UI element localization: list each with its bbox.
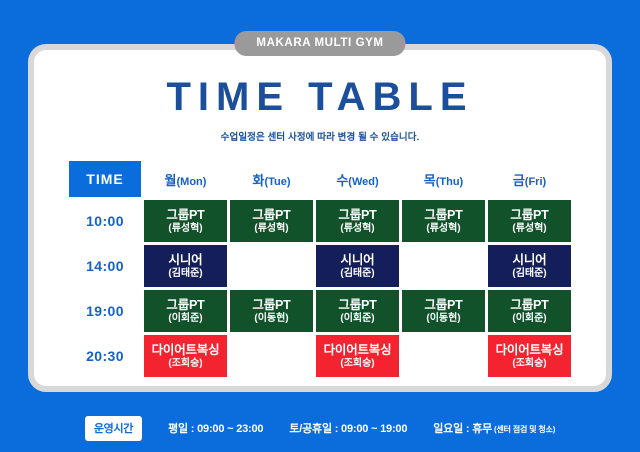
slot-fri-1900[interactable]: 그룹PT (이회준) — [488, 290, 571, 332]
header-day-wed: 수(Wed) — [316, 161, 399, 197]
slot-class-name: 다이어트복싱 — [488, 343, 571, 357]
header-day-fri-ko: 금 — [513, 173, 525, 188]
slot-thu-1400-empty — [402, 245, 485, 287]
slot-coach-name: (조회숭) — [144, 358, 227, 370]
slot-fri-2030[interactable]: 다이어트복싱 (조회숭) — [488, 335, 571, 377]
header-day-thu-en: (Thu) — [436, 176, 463, 188]
table-header-row: TIME 월(Mon) 화(Tue) 수(Wed) 목(Thu) — [69, 161, 571, 197]
slot-coach-name: (류성혁) — [230, 223, 313, 235]
slot-class-name: 시니어 — [488, 253, 571, 267]
header-day-tue: 화(Tue) — [230, 161, 313, 197]
slot-tue-2030-empty — [230, 335, 313, 377]
header-day-thu-ko: 목 — [424, 173, 436, 188]
page-title: TIME TABLE — [66, 76, 574, 118]
slot-fri-1000[interactable]: 그룹PT (류성혁) — [488, 200, 571, 242]
slot-tue-1000[interactable]: 그룹PT (류성혁) — [230, 200, 313, 242]
slot-coach-name: (류성혁) — [144, 223, 227, 235]
header-day-mon-en: (Mon) — [177, 176, 207, 188]
class-schedule-table: TIME 월(Mon) 화(Tue) 수(Wed) 목(Thu) — [66, 158, 574, 380]
hours-weekday: 평일 : 09:00 ~ 23:00 — [168, 420, 263, 436]
slot-wed-2030[interactable]: 다이어트복싱 (조회숭) — [316, 335, 399, 377]
header-day-fri-en: (Fri) — [525, 176, 546, 188]
brand-tab: MAKARA MULTI GYM — [234, 31, 405, 56]
slot-class-name: 그룹PT — [488, 208, 571, 222]
page-subtitle: 수업일정은 센터 사정에 따라 변경 될 수 있습니다. — [66, 129, 574, 143]
slot-tue-1900[interactable]: 그룹PT (이동현) — [230, 290, 313, 332]
slot-class-name: 그룹PT — [144, 298, 227, 312]
slot-coach-name: (조회숭) — [488, 358, 571, 370]
table-row: 20:30 다이어트복싱 (조회숭) 다이어트복싱 (조회숭) 다이어트복싱 — [69, 335, 571, 377]
operating-hours-bar: 운영시간 평일 : 09:00 ~ 23:00 토/공휴일 : 09:00 ~ … — [0, 404, 640, 452]
slot-coach-name: (김태준) — [144, 268, 227, 280]
operating-hours-badge: 운영시간 — [85, 416, 142, 441]
header-time: TIME — [69, 161, 141, 197]
hours-sunday: 일요일 : 휴무(센터 점검 및 청소) — [433, 420, 555, 436]
row-time-1900: 19:00 — [69, 290, 141, 332]
slot-class-name: 그룹PT — [488, 298, 571, 312]
header-day-tue-en: (Tue) — [264, 176, 290, 188]
table-row: 19:00 그룹PT (이회준) 그룹PT (이동현) 그룹PT (이회준) — [69, 290, 571, 332]
slot-coach-name: (김태준) — [488, 268, 571, 280]
poster-card: TIME TABLE 수업일정은 센터 사정에 따라 변경 될 수 있습니다. … — [28, 44, 612, 392]
slot-mon-1900[interactable]: 그룹PT (이회준) — [144, 290, 227, 332]
slot-wed-1900[interactable]: 그룹PT (이회준) — [316, 290, 399, 332]
slot-coach-name: (이회준) — [316, 313, 399, 325]
slot-wed-1000[interactable]: 그룹PT (류성혁) — [316, 200, 399, 242]
card-content: TIME TABLE 수업일정은 센터 사정에 따라 변경 될 수 있습니다. … — [34, 50, 606, 386]
slot-class-name: 그룹PT — [144, 208, 227, 222]
hours-sunday-note: (센터 점검 및 청소) — [494, 425, 555, 434]
header-day-mon: 월(Mon) — [144, 161, 227, 197]
slot-class-name: 그룹PT — [230, 208, 313, 222]
header-day-wed-en: (Wed) — [348, 176, 378, 188]
header-day-mon-ko: 월 — [165, 173, 177, 188]
table-header: TIME 월(Mon) 화(Tue) 수(Wed) 목(Thu) — [69, 161, 571, 197]
slot-class-name: 그룹PT — [230, 298, 313, 312]
table-row: 14:00 시니어 (김태준) 시니어 (김태준) 시니어 — [69, 245, 571, 287]
slot-class-name: 그룹PT — [402, 298, 485, 312]
hours-sunday-text: 일요일 : 휴무 — [433, 423, 492, 435]
slot-coach-name: (류성혁) — [488, 223, 571, 235]
slot-class-name: 다이어트복싱 — [144, 343, 227, 357]
row-time-1400: 14:00 — [69, 245, 141, 287]
table-row: 10:00 그룹PT (류성혁) 그룹PT (류성혁) 그룹PT (류성혁) — [69, 200, 571, 242]
header-day-fri: 금(Fri) — [488, 161, 571, 197]
slot-tue-1400-empty — [230, 245, 313, 287]
slot-wed-1400[interactable]: 시니어 (김태준) — [316, 245, 399, 287]
slot-class-name: 그룹PT — [316, 208, 399, 222]
row-time-2030: 20:30 — [69, 335, 141, 377]
slot-class-name: 시니어 — [144, 253, 227, 267]
slot-thu-1000[interactable]: 그룹PT (류성혁) — [402, 200, 485, 242]
slot-coach-name: (김태준) — [316, 268, 399, 280]
slot-class-name: 그룹PT — [402, 208, 485, 222]
row-time-1000: 10:00 — [69, 200, 141, 242]
header-day-tue-ko: 화 — [252, 173, 264, 188]
slot-coach-name: (조회숭) — [316, 358, 399, 370]
slot-coach-name: (류성혁) — [402, 223, 485, 235]
slot-coach-name: (이회준) — [488, 313, 571, 325]
slot-coach-name: (이동현) — [402, 313, 485, 325]
slot-class-name: 시니어 — [316, 253, 399, 267]
slot-mon-1400[interactable]: 시니어 (김태준) — [144, 245, 227, 287]
slot-class-name: 그룹PT — [316, 298, 399, 312]
table-body: 10:00 그룹PT (류성혁) 그룹PT (류성혁) 그룹PT (류성혁) — [69, 200, 571, 377]
slot-fri-1400[interactable]: 시니어 (김태준) — [488, 245, 571, 287]
header-day-thu: 목(Thu) — [402, 161, 485, 197]
slot-thu-1900[interactable]: 그룹PT (이동현) — [402, 290, 485, 332]
hours-saturday-holiday: 토/공휴일 : 09:00 ~ 19:00 — [289, 420, 407, 436]
slot-mon-1000[interactable]: 그룹PT (류성혁) — [144, 200, 227, 242]
slot-class-name: 다이어트복싱 — [316, 343, 399, 357]
slot-coach-name: (류성혁) — [316, 223, 399, 235]
slot-coach-name: (이동현) — [230, 313, 313, 325]
slot-coach-name: (이회준) — [144, 313, 227, 325]
timetable-poster: MAKARA MULTI GYM TIME TABLE 수업일정은 센터 사정에… — [0, 0, 640, 452]
slot-mon-2030[interactable]: 다이어트복싱 (조회숭) — [144, 335, 227, 377]
slot-thu-2030-empty — [402, 335, 485, 377]
header-day-wed-ko: 수 — [336, 173, 348, 188]
